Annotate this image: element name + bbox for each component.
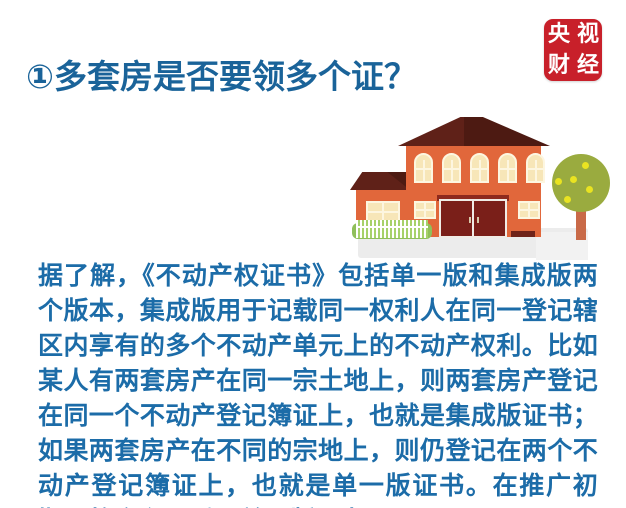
tree-fruit-4 xyxy=(586,186,593,193)
window-arch-1 xyxy=(414,153,433,183)
tree-trunk-shadow xyxy=(574,240,588,258)
infographic-page: 央 视 财 经 ①多套房是否要领多个证？ xyxy=(0,0,626,508)
window-lower-1 xyxy=(414,201,436,219)
tree-fruit-1 xyxy=(582,162,589,169)
tree-fruit-2 xyxy=(555,178,562,185)
garage-handle-left xyxy=(469,217,471,223)
logo-char-1: 央 xyxy=(548,24,569,46)
logo-char-4: 经 xyxy=(577,55,598,77)
fence-rail xyxy=(356,226,428,228)
picket-fence xyxy=(356,220,428,238)
page-title: ①多套房是否要领多个证？ xyxy=(26,50,417,98)
cctv-finance-logo: 央 视 财 经 xyxy=(544,19,602,81)
garage-handle-right xyxy=(477,217,479,223)
window-arch-3 xyxy=(470,153,489,183)
logo-char-2: 视 xyxy=(577,24,598,46)
entry-step xyxy=(511,231,535,237)
window-arch-4 xyxy=(498,153,517,183)
window-arch-2 xyxy=(442,153,461,183)
garage-door xyxy=(439,199,507,238)
logo-char-3: 财 xyxy=(548,55,569,77)
house-main-roof-right xyxy=(464,117,550,146)
tree-fruit-3 xyxy=(570,176,577,183)
house-with-tree-illustration xyxy=(338,100,626,260)
tree-crown xyxy=(552,154,610,212)
window-lower-2 xyxy=(518,201,540,219)
window-arch-5 xyxy=(526,153,545,183)
tree-fruit-5 xyxy=(564,196,571,203)
body-paragraph: 据了解，《不动产权证书》包括单一版和集成版两个版本，集成版用于记载同一权利人在同… xyxy=(38,258,598,508)
